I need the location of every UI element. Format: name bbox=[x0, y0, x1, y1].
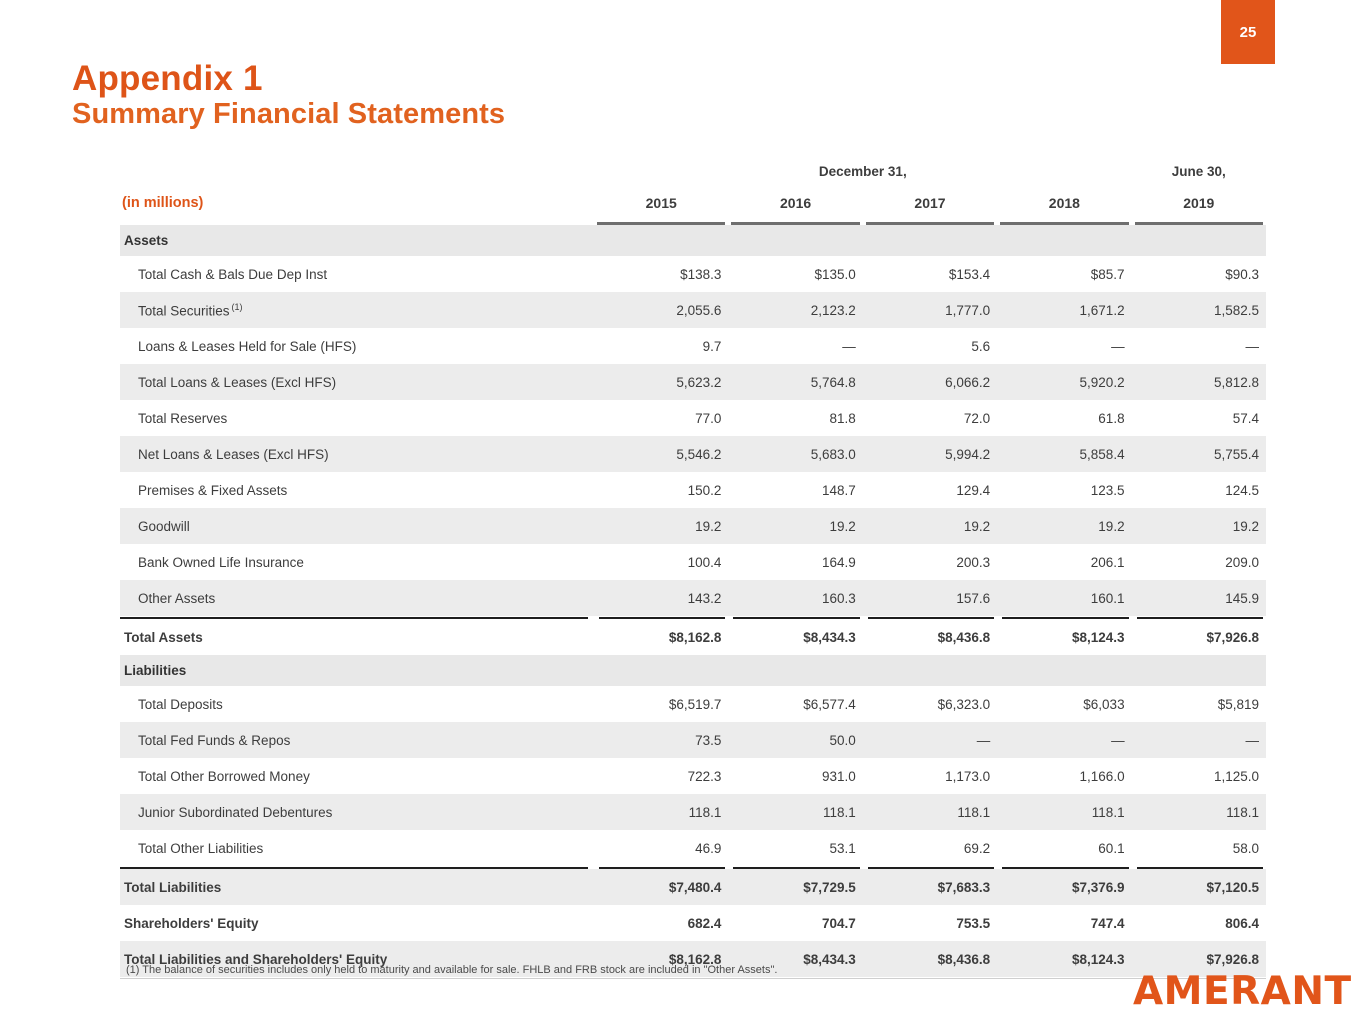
cell-2018: 118.1 bbox=[997, 794, 1131, 830]
section-header-assets: Assets bbox=[120, 225, 1266, 256]
financial-table-container: December 31,June 30,(in millions)2015201… bbox=[120, 155, 1266, 979]
cell-2018: 1,671.2 bbox=[997, 292, 1131, 328]
total-row: Shareholders' Equity682.4704.7753.5747.4… bbox=[120, 905, 1266, 941]
cell-2018: 1,166.0 bbox=[997, 758, 1131, 794]
table-row: Other Assets143.2160.3157.6160.1145.9 bbox=[120, 580, 1266, 616]
cell-2019: 118.1 bbox=[1132, 794, 1266, 830]
row-label: Premises & Fixed Assets bbox=[120, 472, 594, 508]
cell-2016: 81.8 bbox=[728, 400, 862, 436]
table-row: Total Loans & Leases (Excl HFS)5,623.25,… bbox=[120, 364, 1266, 400]
table-bottom-rule bbox=[120, 977, 1266, 979]
section-header-cell bbox=[728, 225, 862, 256]
section-header-cell bbox=[728, 655, 862, 686]
cell-2016: 148.7 bbox=[728, 472, 862, 508]
row-label: Total Other Borrowed Money bbox=[120, 758, 594, 794]
cell-2015: 722.3 bbox=[594, 758, 728, 794]
cell-2015: $6,519.7 bbox=[594, 686, 728, 722]
cell-2019: 5,812.8 bbox=[1132, 364, 1266, 400]
cell-2016: 164.9 bbox=[728, 544, 862, 580]
section-header-cell bbox=[863, 655, 997, 686]
table-row: Total Reserves77.081.872.061.857.4 bbox=[120, 400, 1266, 436]
table-row: Junior Subordinated Debentures118.1118.1… bbox=[120, 794, 1266, 830]
row-label: Total Cash & Bals Due Dep Inst bbox=[120, 256, 594, 292]
total-label: Shareholders' Equity bbox=[120, 905, 594, 941]
cell-2016: 19.2 bbox=[728, 508, 862, 544]
page-number: 25 bbox=[1240, 24, 1257, 41]
amerant-logo: AMERANT bbox=[1133, 972, 1352, 1011]
cell-2017: $153.4 bbox=[863, 256, 997, 292]
table-row: Premises & Fixed Assets150.2148.7129.412… bbox=[120, 472, 1266, 508]
cell-2016: 53.1 bbox=[728, 830, 862, 866]
cell-2015: 143.2 bbox=[594, 580, 728, 616]
total-cell-2018: $7,376.9 bbox=[997, 869, 1131, 905]
section-header-cell bbox=[594, 655, 728, 686]
total-cell-2019: $7,926.8 bbox=[1132, 619, 1266, 655]
cell-2015: 19.2 bbox=[594, 508, 728, 544]
cell-2015: 9.7 bbox=[594, 328, 728, 364]
cell-2018: $6,033 bbox=[997, 686, 1131, 722]
title-block: Appendix 1 Summary Financial Statements bbox=[72, 60, 505, 130]
cell-2015: 118.1 bbox=[594, 794, 728, 830]
column-header-row: (in millions)20152016201720182019 bbox=[120, 186, 1266, 221]
cell-2017: 69.2 bbox=[863, 830, 997, 866]
cell-2019: $5,819 bbox=[1132, 686, 1266, 722]
column-group-header: December 31, bbox=[594, 155, 1132, 184]
cell-2018: 5,920.2 bbox=[997, 364, 1131, 400]
cell-2016: 2,123.2 bbox=[728, 292, 862, 328]
table-row: Net Loans & Leases (Excl HFS)5,546.25,68… bbox=[120, 436, 1266, 472]
cell-2018: — bbox=[997, 722, 1131, 758]
cell-2017: 72.0 bbox=[863, 400, 997, 436]
cell-2016: 160.3 bbox=[728, 580, 862, 616]
cell-2017: 19.2 bbox=[863, 508, 997, 544]
total-cell-2015: 682.4 bbox=[594, 905, 728, 941]
cell-2015: 100.4 bbox=[594, 544, 728, 580]
total-cell-2016: 704.7 bbox=[728, 905, 862, 941]
column-group-header-row: December 31,June 30, bbox=[120, 155, 1266, 184]
table-row: Total Cash & Bals Due Dep Inst$138.3$135… bbox=[120, 256, 1266, 292]
footnote-text: (1) The balance of securities includes o… bbox=[126, 964, 777, 976]
cell-2018: 206.1 bbox=[997, 544, 1131, 580]
table-row: Total Deposits$6,519.7$6,577.4$6,323.0$6… bbox=[120, 686, 1266, 722]
row-label: Loans & Leases Held for Sale (HFS) bbox=[120, 328, 594, 364]
row-label: Bank Owned Life Insurance bbox=[120, 544, 594, 580]
total-cell-2017: $7,683.3 bbox=[863, 869, 997, 905]
cell-2019: 58.0 bbox=[1132, 830, 1266, 866]
row-label: Total Reserves bbox=[120, 400, 594, 436]
column-header-2019: 2019 bbox=[1132, 186, 1266, 221]
table-row: Total Fed Funds & Repos73.550.0——— bbox=[120, 722, 1266, 758]
cell-2018: 61.8 bbox=[997, 400, 1131, 436]
total-cell-2017: $8,436.8 bbox=[863, 619, 997, 655]
total-row: Total Assets$8,162.8$8,434.3$8,436.8$8,1… bbox=[120, 619, 1266, 655]
section-title: Assets bbox=[120, 225, 594, 256]
row-label: Net Loans & Leases (Excl HFS) bbox=[120, 436, 594, 472]
cell-2015: 150.2 bbox=[594, 472, 728, 508]
total-cell-2019: 806.4 bbox=[1132, 905, 1266, 941]
total-cell-2016: $8,434.3 bbox=[728, 619, 862, 655]
total-cell-2016: $7,729.5 bbox=[728, 869, 862, 905]
total-cell-2018: $8,124.3 bbox=[997, 619, 1131, 655]
cell-2019: 145.9 bbox=[1132, 580, 1266, 616]
cell-2018: 123.5 bbox=[997, 472, 1131, 508]
row-label: Total Other Liabilities bbox=[120, 830, 594, 866]
cell-2018: 19.2 bbox=[997, 508, 1131, 544]
table-row: Total Other Liabilities46.953.169.260.15… bbox=[120, 830, 1266, 866]
table-row: Goodwill19.219.219.219.219.2 bbox=[120, 508, 1266, 544]
cell-2015: 5,623.2 bbox=[594, 364, 728, 400]
cell-2017: 118.1 bbox=[863, 794, 997, 830]
cell-2018: 5,858.4 bbox=[997, 436, 1131, 472]
total-cell-2017: 753.5 bbox=[863, 905, 997, 941]
section-header-cell bbox=[1132, 225, 1266, 256]
cell-2016: 118.1 bbox=[728, 794, 862, 830]
row-label: Goodwill bbox=[120, 508, 594, 544]
section-title: Liabilities bbox=[120, 655, 594, 686]
cell-2017: 5.6 bbox=[863, 328, 997, 364]
cell-2019: 57.4 bbox=[1132, 400, 1266, 436]
cell-2015: 73.5 bbox=[594, 722, 728, 758]
units-label: (in millions) bbox=[120, 186, 594, 221]
cell-2019: 19.2 bbox=[1132, 508, 1266, 544]
cell-2017: $6,323.0 bbox=[863, 686, 997, 722]
cell-2017: 1,777.0 bbox=[863, 292, 997, 328]
cell-2018: $85.7 bbox=[997, 256, 1131, 292]
group-header-spacer bbox=[120, 155, 594, 184]
total-cell-2018: 747.4 bbox=[997, 905, 1131, 941]
total-cell-2019: $7,120.5 bbox=[1132, 869, 1266, 905]
total-label: Total Liabilities bbox=[120, 869, 594, 905]
cell-2018: 160.1 bbox=[997, 580, 1131, 616]
row-label: Junior Subordinated Debentures bbox=[120, 794, 594, 830]
section-header-cell bbox=[1132, 655, 1266, 686]
cell-2015: 77.0 bbox=[594, 400, 728, 436]
cell-2016: 50.0 bbox=[728, 722, 862, 758]
section-header-cell bbox=[863, 225, 997, 256]
cell-2016: $6,577.4 bbox=[728, 686, 862, 722]
table-row: Loans & Leases Held for Sale (HFS)9.7—5.… bbox=[120, 328, 1266, 364]
page-title: Appendix 1 bbox=[72, 60, 505, 98]
cell-2017: 5,994.2 bbox=[863, 436, 997, 472]
cell-2016: 5,764.8 bbox=[728, 364, 862, 400]
section-header-liabilities: Liabilities bbox=[120, 655, 1266, 686]
cell-2015: $138.3 bbox=[594, 256, 728, 292]
section-header-cell bbox=[997, 655, 1131, 686]
cell-2015: 46.9 bbox=[594, 830, 728, 866]
section-header-cell bbox=[594, 225, 728, 256]
cell-2018: 60.1 bbox=[997, 830, 1131, 866]
row-label: Total Deposits bbox=[120, 686, 594, 722]
total-cell-2015: $8,162.8 bbox=[594, 619, 728, 655]
column-group-header: June 30, bbox=[1132, 155, 1266, 184]
cell-2018: — bbox=[997, 328, 1131, 364]
total-label: Total Assets bbox=[120, 619, 594, 655]
total-cell-2017: $8,436.8 bbox=[863, 941, 997, 977]
column-header-2015: 2015 bbox=[594, 186, 728, 221]
cell-2019: 124.5 bbox=[1132, 472, 1266, 508]
cell-2015: 2,055.6 bbox=[594, 292, 728, 328]
cell-2017: 1,173.0 bbox=[863, 758, 997, 794]
cell-2019: 1,125.0 bbox=[1132, 758, 1266, 794]
cell-2016: $135.0 bbox=[728, 256, 862, 292]
cell-2017: 200.3 bbox=[863, 544, 997, 580]
cell-2017: 6,066.2 bbox=[863, 364, 997, 400]
total-cell-2018: $8,124.3 bbox=[997, 941, 1131, 977]
cell-2017: 129.4 bbox=[863, 472, 997, 508]
table-row: Bank Owned Life Insurance100.4164.9200.3… bbox=[120, 544, 1266, 580]
section-header-cell bbox=[997, 225, 1131, 256]
total-cell-2015: $7,480.4 bbox=[594, 869, 728, 905]
summary-financial-statements-table: December 31,June 30,(in millions)2015201… bbox=[120, 155, 1266, 979]
column-header-2018: 2018 bbox=[997, 186, 1131, 221]
cell-2019: — bbox=[1132, 328, 1266, 364]
row-label: Total Loans & Leases (Excl HFS) bbox=[120, 364, 594, 400]
row-label: Other Assets bbox=[120, 580, 594, 616]
cell-2019: 5,755.4 bbox=[1132, 436, 1266, 472]
cell-2017: — bbox=[863, 722, 997, 758]
cell-2016: 5,683.0 bbox=[728, 436, 862, 472]
cell-2015: 5,546.2 bbox=[594, 436, 728, 472]
page-subtitle: Summary Financial Statements bbox=[72, 98, 505, 130]
cell-2016: 931.0 bbox=[728, 758, 862, 794]
cell-2019: — bbox=[1132, 722, 1266, 758]
cell-2019: 209.0 bbox=[1132, 544, 1266, 580]
row-label: Total Securities(1) bbox=[120, 292, 594, 328]
footnote-marker: (1) bbox=[232, 302, 243, 312]
total-row: Total Liabilities$7,480.4$7,729.5$7,683.… bbox=[120, 869, 1266, 905]
table-row: Total Securities(1)2,055.62,123.21,777.0… bbox=[120, 292, 1266, 328]
cell-2019: $90.3 bbox=[1132, 256, 1266, 292]
column-header-2016: 2016 bbox=[728, 186, 862, 221]
cell-2019: 1,582.5 bbox=[1132, 292, 1266, 328]
page-number-badge: 25 bbox=[1221, 0, 1275, 64]
cell-2016: — bbox=[728, 328, 862, 364]
cell-2017: 157.6 bbox=[863, 580, 997, 616]
row-label: Total Fed Funds & Repos bbox=[120, 722, 594, 758]
column-header-2017: 2017 bbox=[863, 186, 997, 221]
table-row: Total Other Borrowed Money722.3931.01,17… bbox=[120, 758, 1266, 794]
